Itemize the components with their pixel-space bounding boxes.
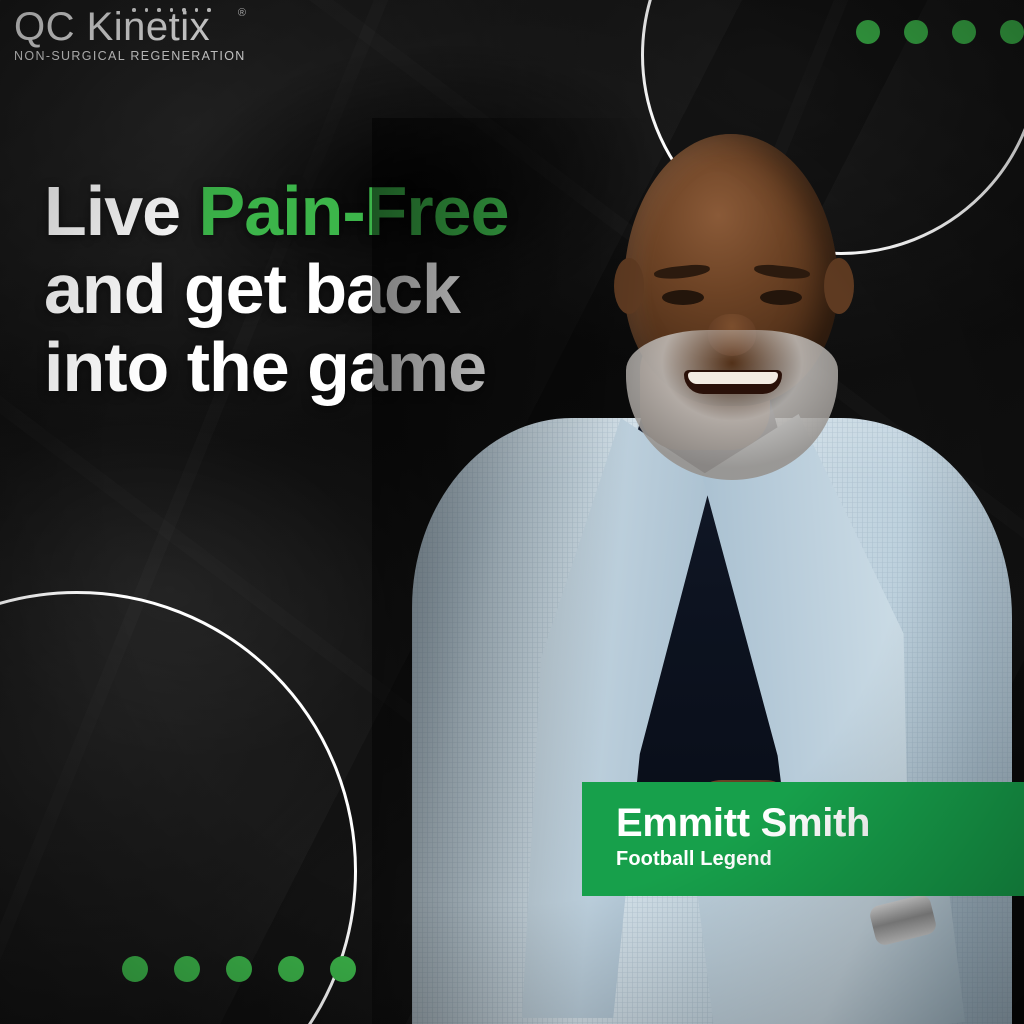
promotional-poster: QC Kinetix ® NON-SURGICAL REGENERATION L… bbox=[0, 0, 1024, 1024]
vignette-overlay bbox=[0, 0, 1024, 1024]
